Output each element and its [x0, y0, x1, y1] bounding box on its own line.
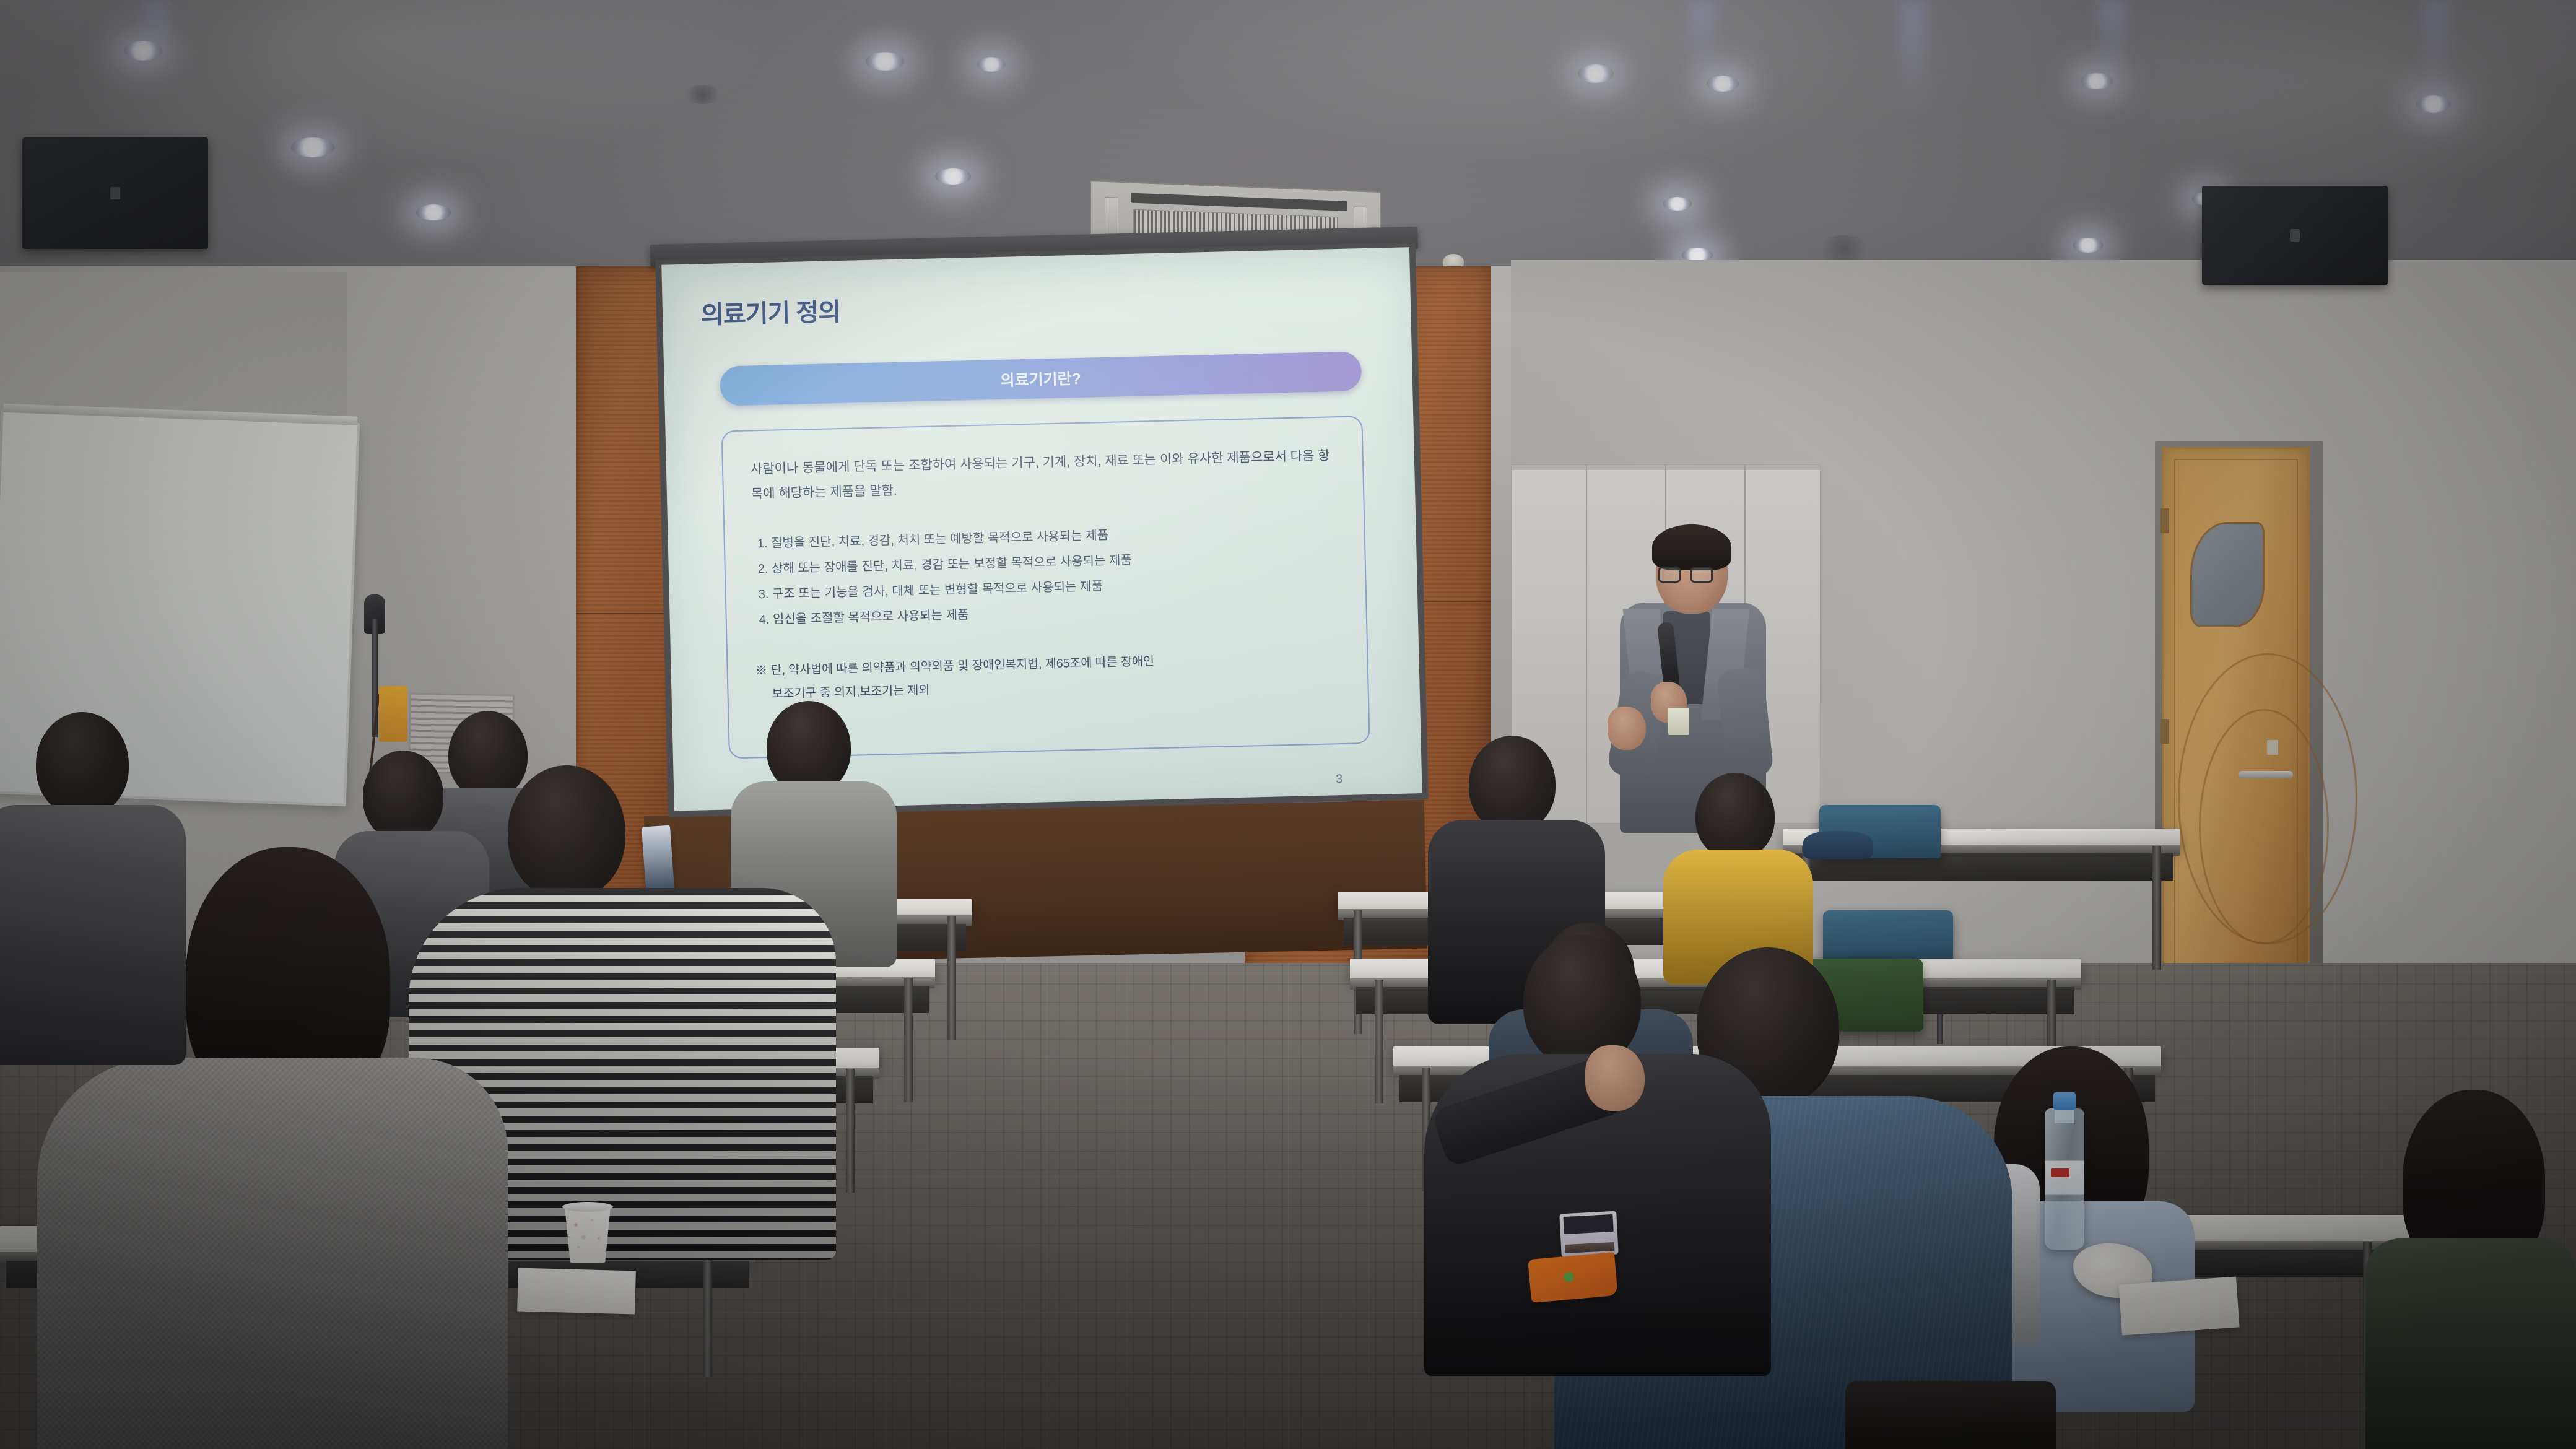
slide-header-pill: 의료기기란?: [720, 351, 1362, 406]
ceiling-light-icon: [1707, 76, 1739, 92]
ceiling-light-icon: [124, 41, 162, 61]
ceiling-light-icon: [291, 137, 334, 157]
ceiling-light-icon: [935, 168, 971, 185]
ac-side-vent: [1105, 197, 1118, 237]
seminar-room-photo: 의료기기 정의 의료기기란? 사람이나 동물에게 단독 또는 조합하여 사용되는…: [0, 0, 2576, 1449]
phone-screen: [1563, 1214, 1613, 1234]
handout-paper[interactable]: [517, 1268, 636, 1315]
speaker-driver-icon: [2290, 229, 2300, 241]
pouch-button-icon: [1564, 1272, 1574, 1282]
slide-page-number: 3: [1336, 772, 1343, 786]
ceiling-light-icon: [2416, 95, 2451, 113]
glasses-icon: [1690, 567, 1713, 583]
bottle-cap[interactable]: [2053, 1092, 2076, 1110]
door-lock-icon[interactable]: [2267, 740, 2278, 755]
attendee-head: [448, 711, 528, 799]
slide-lead-text: 사람이나 동물에게 단독 또는 조합하여 사용되는 기구, 기계, 장치, 재료…: [751, 443, 1336, 507]
ac-vent-slot: [1131, 193, 1347, 211]
wall-speaker-right: [2202, 186, 2388, 285]
cabinet-seam: [1586, 465, 1587, 823]
slide-footnote: ※ 단, 약사법에 따른 의약품과 의약외품 및 장애인복지법, 제65조에 따…: [755, 645, 1341, 706]
bottle-label-mark: [2051, 1168, 2069, 1177]
ceiling-fixture-icon: [681, 85, 724, 104]
ceiling-light-icon: [977, 57, 1006, 72]
door-arc-decor: [2199, 709, 2329, 944]
glasses-icon: [1658, 567, 1681, 583]
speaker-driver-icon: [110, 187, 120, 199]
door-handle[interactable]: [2239, 771, 2293, 778]
wall-speaker-left: [22, 137, 208, 249]
ceiling-light-icon: [1663, 197, 1692, 211]
presenter-hair: [1652, 524, 1731, 570]
orange-pouch[interactable]: [1528, 1252, 1618, 1303]
door-hinge-icon: [2160, 719, 2169, 744]
ceiling-light-icon: [2081, 73, 2113, 89]
door-hinge-icon: [2160, 508, 2169, 533]
cup-rim: [562, 1202, 613, 1212]
attendee-head: [363, 751, 443, 841]
handout-paper[interactable]: [2118, 1276, 2239, 1335]
presenter-badge: [1668, 708, 1689, 735]
door-glass-window: [2190, 522, 2265, 627]
water-bottle[interactable]: [2045, 1108, 2084, 1250]
ceiling-light-icon: [866, 52, 904, 71]
smartphone[interactable]: [1559, 1211, 1619, 1258]
attendee-head: [1469, 736, 1556, 832]
room-door[interactable]: [2162, 447, 2310, 990]
attendee-torso: [37, 1058, 508, 1449]
slide-item-list: 1. 질병을 진단, 치료, 경감, 처치 또는 예방할 목적으로 사용되는 제…: [757, 518, 1339, 633]
ceiling-light-icon: [416, 204, 451, 220]
attendee-head: [36, 712, 129, 816]
cap-on-desk: [1803, 831, 1873, 859]
paper-cup[interactable]: [565, 1206, 611, 1263]
cup-dot-pattern: [565, 1206, 611, 1263]
backpack: [1845, 1381, 2056, 1449]
phone-case-band: [1565, 1242, 1615, 1253]
ceiling-light-icon: [2073, 238, 2103, 253]
ceiling-light-icon: [1578, 64, 1614, 83]
ceiling-fixture-icon: [1814, 235, 1874, 263]
attendee-head: [1695, 773, 1775, 859]
yellow-object: [379, 686, 407, 742]
bottle-label: [2045, 1160, 2084, 1195]
attendee-head: [767, 701, 851, 794]
attendee-torso: [2365, 1238, 2576, 1449]
attendee-torso: [0, 805, 186, 1065]
slide-title: 의료기기 정의: [700, 279, 1381, 331]
attendee-hand: [1585, 1045, 1645, 1111]
attendee-head: [508, 765, 625, 899]
presenter-hand: [1608, 707, 1646, 750]
